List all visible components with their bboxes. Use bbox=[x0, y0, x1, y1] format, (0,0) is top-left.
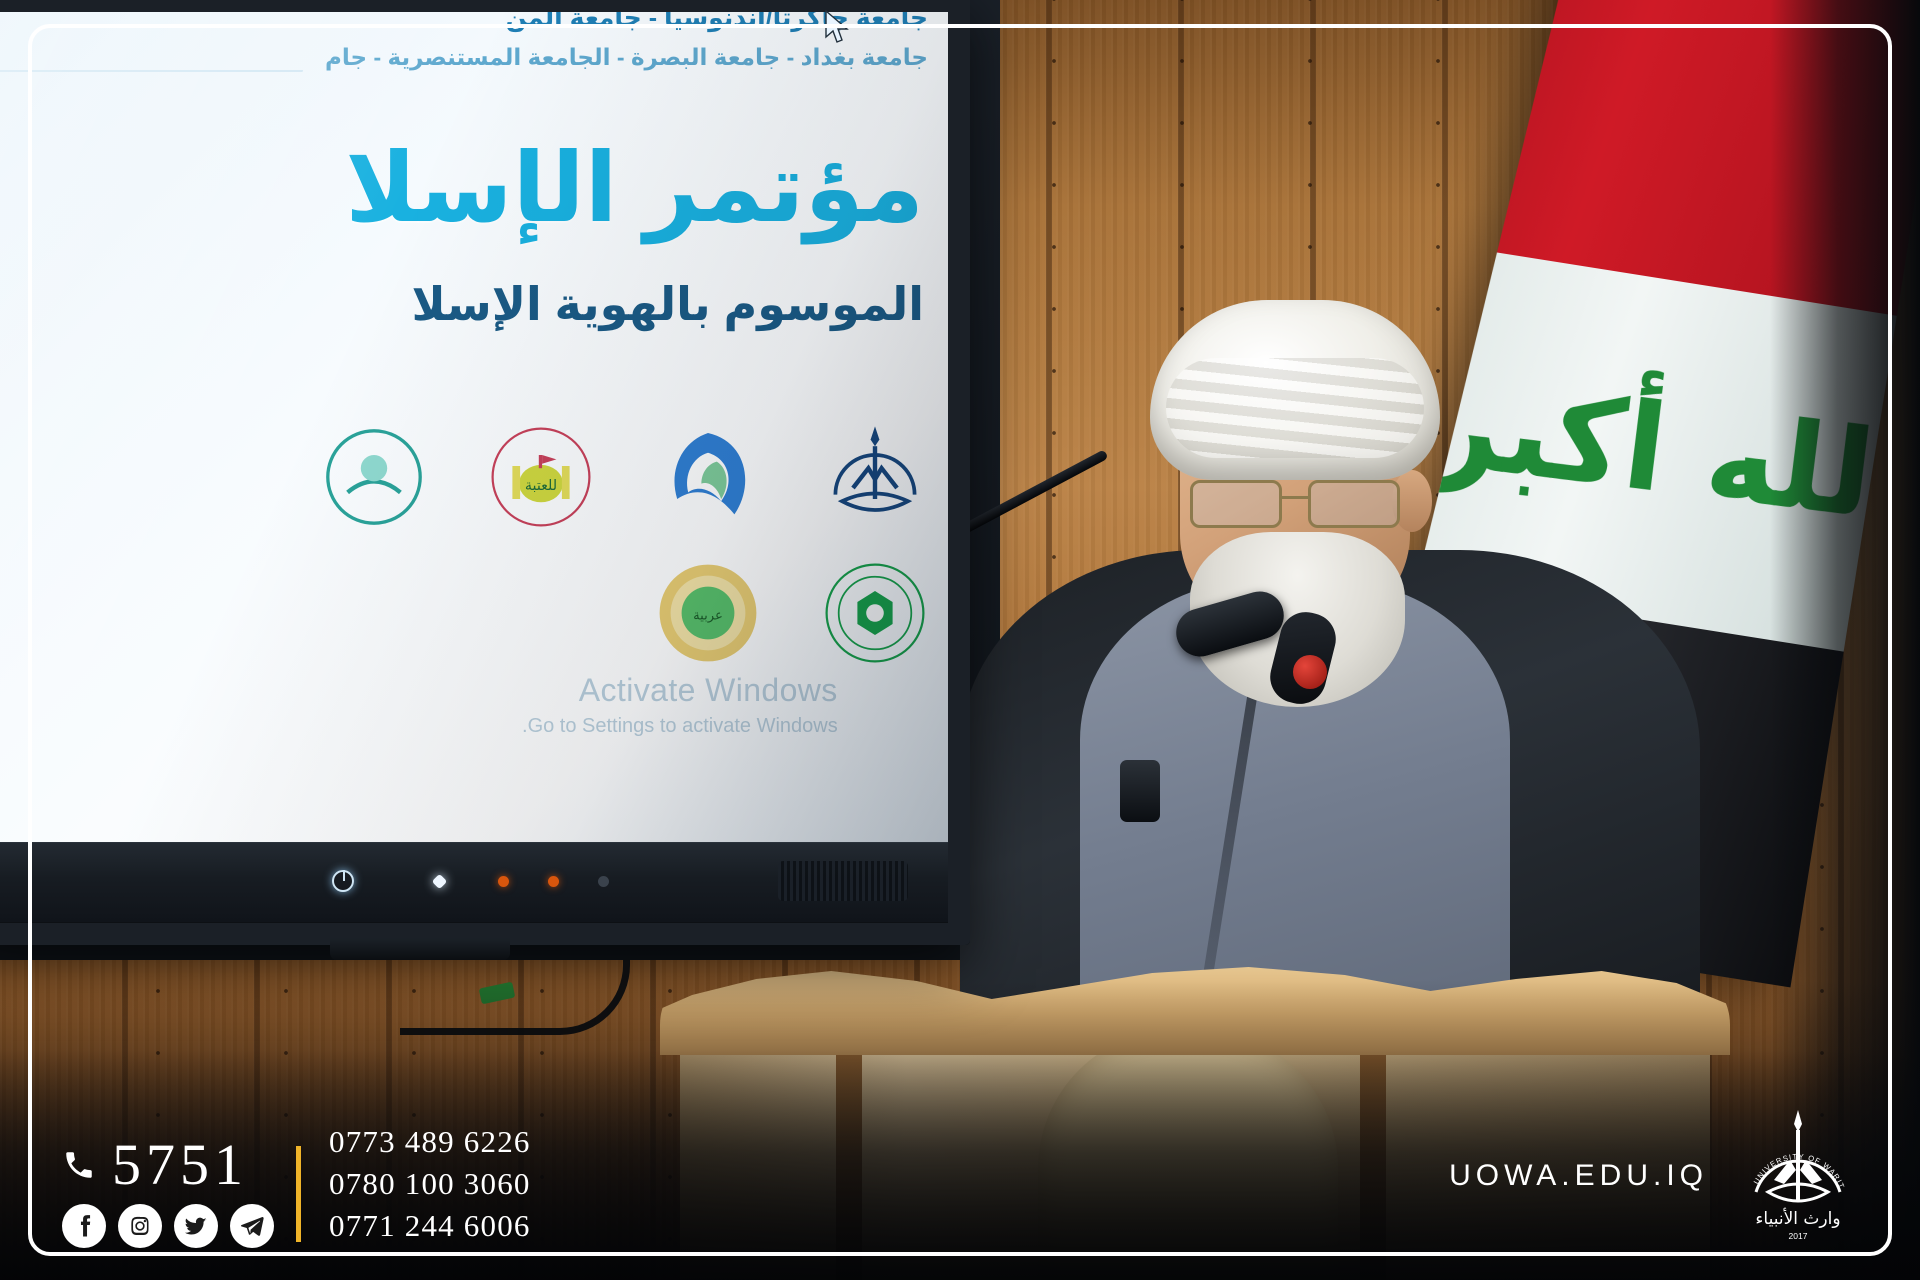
contact-block: 5751 0773 489 6226 0780 100 3060 bbox=[62, 1124, 531, 1248]
social-icons[interactable] bbox=[62, 1204, 274, 1248]
screenshot-stage: الله أكبر bbox=[0, 0, 1920, 1280]
instagram-icon[interactable] bbox=[118, 1204, 162, 1248]
phone-list: 0773 489 6226 0780 100 3060 0771 244 600… bbox=[329, 1124, 531, 1248]
microphone-windscreen-red bbox=[1293, 655, 1327, 689]
speaker-turban bbox=[1150, 300, 1440, 480]
hotline-row: 5751 bbox=[62, 1136, 274, 1194]
phone-number: 0780 100 3060 bbox=[329, 1166, 531, 1202]
interactive-display[interactable]: جامعة جاكرتا/اندنوسيا - جامعة المن جامعة… bbox=[0, 0, 970, 945]
twitter-icon[interactable] bbox=[174, 1204, 218, 1248]
logo-university-of-kufa bbox=[820, 558, 930, 668]
phone-icon bbox=[62, 1148, 96, 1182]
speaker-glasses bbox=[1190, 480, 1420, 528]
mouse-pointer bbox=[824, 10, 850, 46]
display-control-bar[interactable] bbox=[0, 842, 948, 922]
logo-warith-al-anbiyaa bbox=[820, 422, 930, 532]
svg-text:2017: 2017 bbox=[1789, 1231, 1808, 1241]
svg-text:عربية: عربية bbox=[693, 609, 723, 624]
logo-trefoil-blue bbox=[653, 422, 763, 532]
logo-golden-wreath: عربية bbox=[653, 558, 763, 668]
power-icon[interactable] bbox=[332, 870, 354, 892]
slide-subtitle: الموسوم بالهوية الإسلا bbox=[0, 277, 924, 331]
brand-block: UOWA.EDU.IQ UNIVERSITY OF WARITH AL-ANBI… bbox=[1449, 1106, 1858, 1246]
contact-divider bbox=[296, 1146, 301, 1242]
website-url[interactable]: UOWA.EDU.IQ bbox=[1449, 1159, 1708, 1193]
slide-logo-grid: للعتبة عربية bbox=[298, 412, 948, 678]
presentation-slide: جامعة جاكرتا/اندنوسيا - جامعة المن جامعة… bbox=[0, 12, 948, 842]
hotline-number: 5751 bbox=[112, 1136, 248, 1194]
status-led-dim bbox=[598, 876, 609, 887]
logo-university-5 bbox=[319, 422, 429, 532]
status-led-white bbox=[432, 874, 448, 890]
speaker-person bbox=[1040, 300, 1660, 1060]
watermark-subtitle: Go to Settings to activate Windows. bbox=[522, 715, 838, 738]
phone-number: 0771 244 6006 bbox=[329, 1208, 531, 1244]
phone-number: 0773 489 6226 bbox=[329, 1124, 531, 1160]
slide-title: مؤتمر الإسلا bbox=[0, 132, 924, 244]
status-led-orange-2 bbox=[548, 876, 559, 887]
facebook-icon[interactable] bbox=[62, 1204, 106, 1248]
svg-text:UNIVERSITY OF WARITH AL-ANBIYA: UNIVERSITY OF WARITH AL-ANBIYAA bbox=[1738, 1106, 1847, 1190]
status-led-orange-1 bbox=[498, 876, 509, 887]
windows-activation-watermark: Activate Windows Go to Settings to activ… bbox=[522, 672, 838, 738]
svg-text:للعتبة: للعتبة bbox=[525, 478, 557, 494]
slide-header-rule bbox=[0, 34, 313, 72]
watermark-title: Activate Windows bbox=[522, 672, 838, 709]
display-speaker-grille bbox=[778, 861, 908, 901]
svg-text:وارث الأنبياء: وارث الأنبياء bbox=[1755, 1208, 1840, 1229]
telegram-icon[interactable] bbox=[230, 1204, 274, 1248]
logo-holy-shrine-circular: للعتبة bbox=[486, 422, 596, 532]
university-logo: UNIVERSITY OF WARITH AL-ANBIYAA وارث الأ… bbox=[1738, 1106, 1858, 1246]
display-screen[interactable]: جامعة جاكرتا/اندنوسيا - جامعة المن جامعة… bbox=[0, 12, 948, 842]
microphone-clamp bbox=[1120, 760, 1160, 822]
